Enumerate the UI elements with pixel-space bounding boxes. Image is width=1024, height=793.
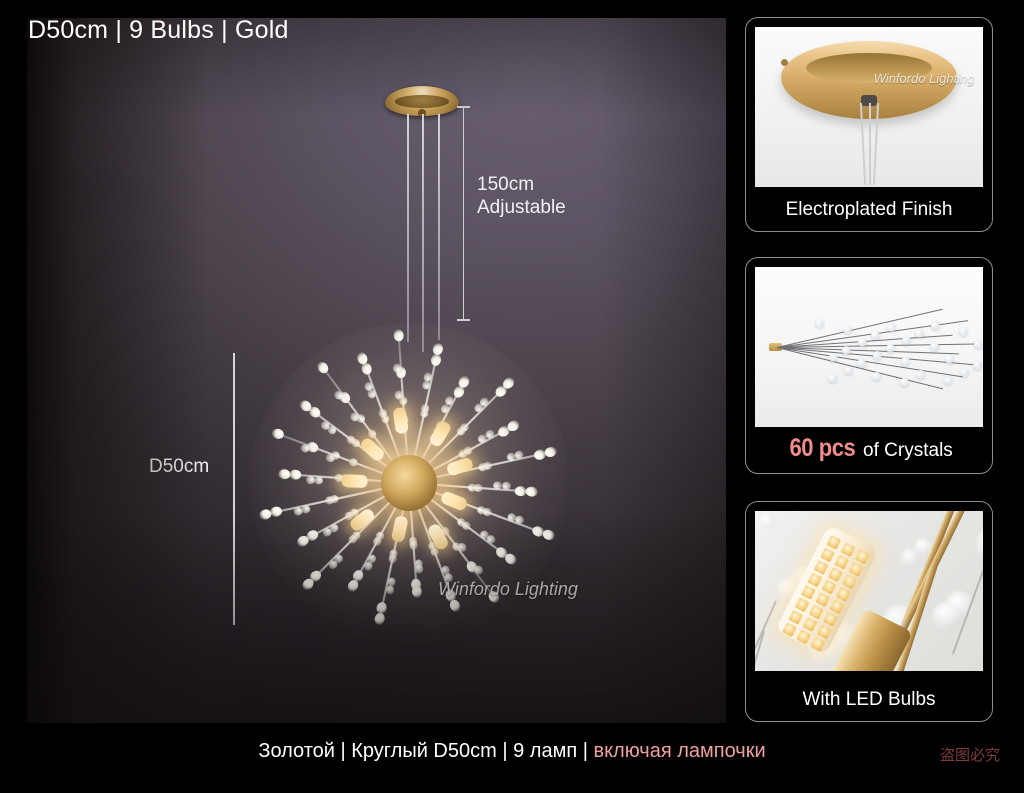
feature-panel-led-bulbs[interactable]: With LED Bulbs bbox=[745, 501, 993, 722]
panel-photo-crystal-branch bbox=[755, 267, 983, 427]
gold-canopy-illustration: Winfordo Lighting bbox=[755, 27, 983, 187]
footer-caption-accent: включая лампочки bbox=[593, 740, 765, 762]
dimension-label-diameter: D50cm bbox=[149, 456, 209, 478]
center-hub bbox=[381, 455, 437, 511]
crystal-bead bbox=[858, 338, 867, 347]
led-chip bbox=[817, 624, 832, 639]
led-chip bbox=[807, 572, 822, 587]
footer-caption-plain: Золотой | Круглый D50cm | 9 ламп | bbox=[258, 740, 593, 762]
background-crystal bbox=[901, 549, 919, 567]
panel-watermark: Winfordo Lighting bbox=[874, 71, 975, 86]
panel-caption-led-bulbs: With LED Bulbs bbox=[746, 689, 992, 711]
led-bulb bbox=[341, 474, 367, 488]
crystal-bead bbox=[945, 355, 954, 364]
crystal-bead bbox=[842, 346, 851, 355]
led-chip bbox=[814, 560, 829, 575]
led-chip bbox=[842, 575, 857, 590]
dimension-line-height bbox=[463, 106, 464, 321]
led-chip bbox=[809, 605, 824, 620]
crystal-bead bbox=[973, 361, 982, 370]
dimension-height-value: 150cm bbox=[477, 173, 566, 196]
crystal-bead bbox=[902, 336, 911, 345]
led-bulb-illustration bbox=[755, 511, 983, 671]
led-chip bbox=[822, 580, 837, 595]
crystal-bead bbox=[944, 376, 953, 385]
crystal-bead bbox=[872, 372, 881, 381]
hero-watermark: Winfordo Lighting bbox=[438, 579, 578, 600]
dimension-label-height: 150cm Adjustable bbox=[477, 173, 566, 219]
suspension-cable bbox=[438, 114, 440, 340]
crystal-bead bbox=[829, 353, 838, 362]
crystal-bead bbox=[873, 351, 882, 360]
canopy-mount-screw bbox=[781, 59, 788, 66]
crystal-bead bbox=[916, 370, 925, 379]
led-chip bbox=[803, 617, 818, 632]
crystal-bead bbox=[930, 342, 939, 351]
feature-panel-electroplated-finish[interactable]: Winfordo Lighting Electroplated Finish bbox=[745, 17, 993, 232]
crystal-bead bbox=[915, 329, 924, 338]
led-chip bbox=[855, 550, 870, 565]
crystal-bead bbox=[828, 374, 837, 383]
crystal-bead bbox=[900, 378, 909, 387]
led-chip bbox=[830, 599, 845, 614]
crystal-branch-illustration bbox=[755, 267, 983, 427]
background-crystal bbox=[759, 513, 775, 529]
led-chip bbox=[826, 535, 841, 550]
crystal-bead bbox=[887, 323, 896, 332]
led-chip bbox=[836, 587, 851, 602]
led-chip bbox=[782, 622, 797, 637]
crystal-bead bbox=[886, 344, 895, 353]
led-chip bbox=[815, 592, 830, 607]
crystal-bead bbox=[843, 325, 852, 334]
led-chip bbox=[849, 562, 864, 577]
crystal-bead bbox=[815, 319, 824, 328]
crystal-count-label: of Crystals bbox=[863, 440, 953, 461]
crystal-wire bbox=[755, 601, 777, 671]
panel-caption-electroplated-finish: Electroplated Finish bbox=[746, 199, 992, 221]
panel-caption-crystal-count: 60 pcsof Crystals bbox=[746, 434, 992, 463]
background-crystal bbox=[976, 524, 983, 565]
feature-panel-crystal-count[interactable]: 60 pcsof Crystals bbox=[745, 257, 993, 474]
page-title: D50cm | 9 Bulbs | Gold bbox=[28, 16, 289, 45]
crystal-bead bbox=[844, 366, 853, 375]
led-chip bbox=[788, 610, 803, 625]
led-chip bbox=[795, 597, 810, 612]
crystal-bead bbox=[974, 340, 983, 349]
led-chip bbox=[841, 542, 856, 557]
copyright-watermark: 盗图必究 bbox=[940, 744, 1000, 765]
dimension-height-note: Adjustable bbox=[477, 196, 566, 219]
ceiling-canopy bbox=[385, 86, 459, 116]
panel-photo-led-bulb bbox=[755, 511, 983, 671]
crystal-bead bbox=[931, 321, 940, 330]
crystal-bead bbox=[959, 327, 968, 336]
crystal-bead bbox=[960, 368, 969, 377]
led-chip bbox=[823, 612, 838, 627]
canopy-wire bbox=[869, 103, 871, 185]
panel-photo-canopy: Winfordo Lighting bbox=[755, 27, 983, 187]
crystal-bead bbox=[857, 359, 866, 368]
hero-product-image: 150cm Adjustable D50cm Winfordo Lighting bbox=[27, 18, 726, 723]
led-chip bbox=[796, 630, 811, 645]
led-chip bbox=[801, 585, 816, 600]
background-crystal bbox=[932, 602, 961, 631]
crystal-count-value: 60 pcs bbox=[790, 434, 856, 463]
dimension-line-diameter bbox=[233, 353, 235, 625]
footer-caption: Золотой | Круглый D50cm | 9 ламп | включ… bbox=[0, 740, 1024, 763]
suspension-cable bbox=[422, 114, 424, 352]
led-chip bbox=[828, 567, 843, 582]
crystal-bead bbox=[871, 331, 880, 340]
led-chip bbox=[820, 547, 835, 562]
suspension-cable bbox=[407, 114, 409, 342]
crystal-bead bbox=[901, 357, 910, 366]
led-chip bbox=[834, 555, 849, 570]
